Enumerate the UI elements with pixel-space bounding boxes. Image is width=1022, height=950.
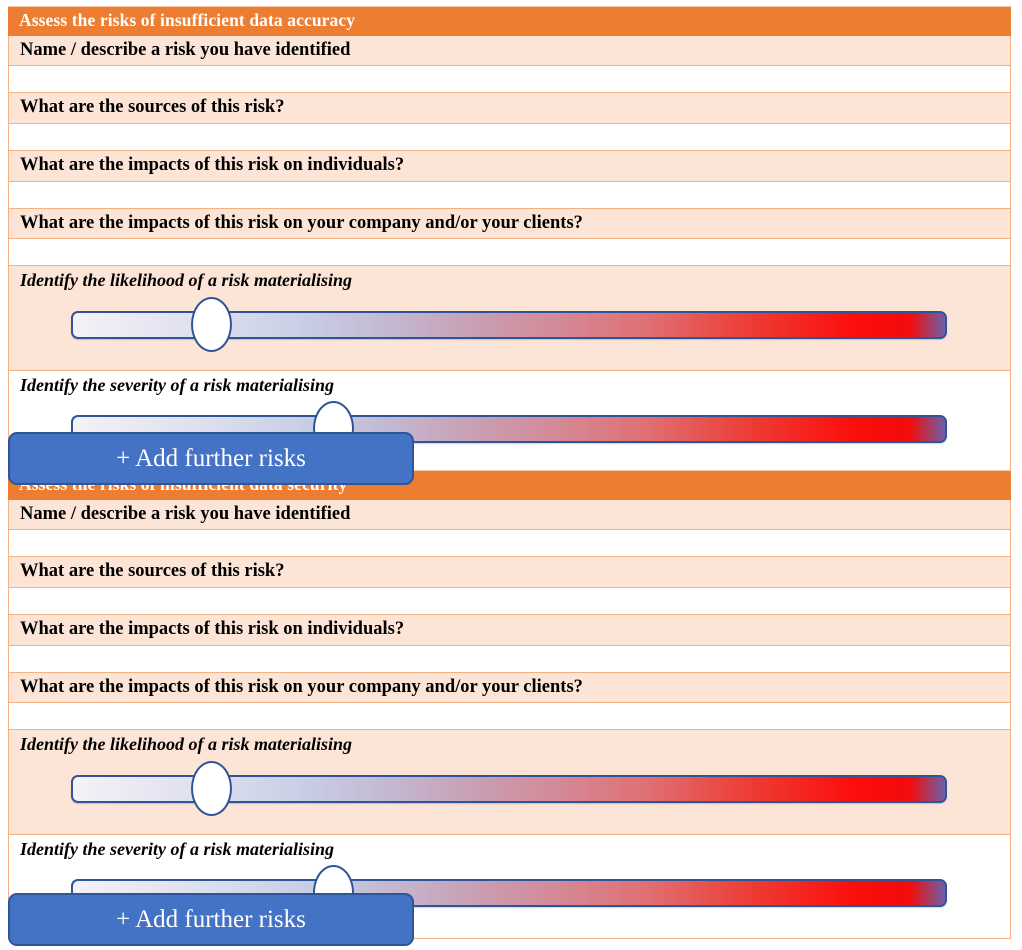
field-input-impacts-individuals[interactable] — [8, 646, 1011, 673]
field-input-impacts-company[interactable] — [8, 239, 1011, 266]
field-label-sources: What are the sources of this risk? — [8, 93, 1011, 124]
field-label-likelihood: Identify the likelihood of a risk materi… — [8, 266, 1011, 292]
risk-section-data-accuracy: Assess the risks of insufficient data ac… — [8, 6, 1011, 475]
field-label-name: Name / describe a risk you have identifi… — [8, 500, 1011, 531]
field-input-name[interactable] — [8, 66, 1011, 93]
risk-section-data-security: Assess the risks of insufficient data se… — [8, 470, 1011, 939]
add-further-risks-button-accuracy[interactable]: + Add further risks — [8, 432, 414, 485]
field-label-sources: What are the sources of this risk? — [8, 557, 1011, 588]
field-label-impacts-company: What are the impacts of this risk on you… — [8, 673, 1011, 704]
risk-assessment-form: Assess the risks of insufficient data ac… — [0, 0, 1022, 950]
field-input-sources[interactable] — [8, 124, 1011, 151]
slider-row-likelihood — [8, 293, 1011, 371]
field-label-impacts-company: What are the impacts of this risk on you… — [8, 209, 1011, 240]
field-input-sources[interactable] — [8, 588, 1011, 615]
field-label-impacts-individuals: What are the impacts of this risk on ind… — [8, 151, 1011, 182]
add-further-risks-button-security[interactable]: + Add further risks — [8, 893, 414, 946]
field-label-severity: Identify the severity of a risk material… — [8, 835, 1011, 861]
field-label-severity: Identify the severity of a risk material… — [8, 371, 1011, 397]
likelihood-slider[interactable] — [63, 303, 1010, 347]
slider-row-likelihood — [8, 757, 1011, 835]
field-label-likelihood: Identify the likelihood of a risk materi… — [8, 730, 1011, 756]
field-label-name: Name / describe a risk you have identifi… — [8, 36, 1011, 67]
likelihood-slider-thumb[interactable] — [191, 761, 232, 816]
section-header-title: Assess the risks of insufficient data ac… — [8, 6, 1011, 36]
field-label-impacts-individuals: What are the impacts of this risk on ind… — [8, 615, 1011, 646]
field-input-impacts-individuals[interactable] — [8, 182, 1011, 209]
field-input-impacts-company[interactable] — [8, 703, 1011, 730]
field-input-name[interactable] — [8, 530, 1011, 557]
likelihood-slider-thumb[interactable] — [191, 297, 232, 352]
likelihood-slider[interactable] — [63, 767, 1010, 811]
